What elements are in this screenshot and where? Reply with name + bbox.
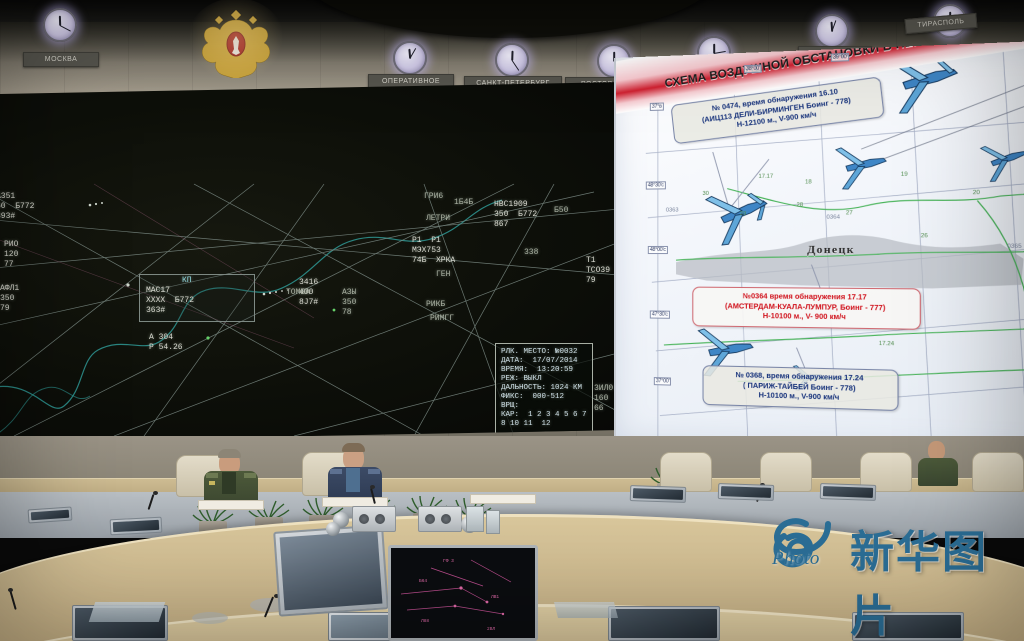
front-desk-monitor[interactable] (852, 612, 964, 641)
track-number-5: 18 (805, 179, 812, 185)
officer-shoulder-board-left (206, 473, 218, 478)
officer-shoulder-board-right (244, 473, 256, 478)
speaker-vent (359, 514, 369, 524)
glass-divider-panel (486, 510, 500, 534)
geo-label-4: 37°00' (654, 377, 672, 386)
svg-text:2ВЛ: 2ВЛ (487, 626, 495, 632)
radar-track-label-3: А 304 Р 54.26 (149, 333, 183, 353)
radar-panel-line-5: ФИКС: 000-512 (501, 393, 564, 402)
radar-track-label-7: T1 ТСО39 79 (586, 256, 610, 286)
radar-track-label-12: Б50 (554, 206, 568, 216)
track-number-2: 0365 (1007, 244, 1021, 251)
geo-label-3: 47°30'с (650, 310, 670, 318)
radar-track-label-20: ГЕН (436, 270, 450, 280)
front-desk-monitor[interactable] (608, 606, 720, 641)
radar-track-label-5: HBC1909 350 Б772 867 (494, 200, 537, 230)
track-number-3: 17.17 (758, 174, 773, 180)
monitor-screen (633, 488, 683, 500)
monitor-screen (721, 486, 771, 498)
radar-track-label-15: ГРИ6 (424, 192, 443, 202)
tilted-display-monitor[interactable] (273, 524, 389, 616)
speaker-vent (441, 514, 451, 524)
radar-panel-line-3: РЕЖ: ВЫКЛ (501, 375, 542, 384)
nameplate (198, 500, 264, 510)
embedded-desk-monitor[interactable] (110, 517, 163, 536)
chair (972, 452, 1024, 492)
radar-panel-line-7: КАР: 1 2 3 4 5 6 7 (501, 411, 587, 420)
geo-label-1: 48°30'с (646, 181, 666, 189)
officer-shoulder-board-left (330, 469, 342, 474)
geo-label-2: 48°00'с (648, 246, 668, 254)
svg-text:ЛВ1: ЛВ1 (491, 594, 499, 600)
geo-label-5: 38°00' (744, 64, 762, 73)
russian-coat-of-arms-emblem (193, 4, 279, 78)
clock-label-moscow: МОСКВА (23, 52, 99, 67)
console-radar-trace: ГФ 3 Б64 ЛВ1 Л88 2ВЛ (391, 548, 535, 638)
radar-panel-line-8: 8 10 11 12 (501, 420, 551, 429)
radar-track-label-16: РИКБ (426, 300, 445, 310)
track-number-11: 29 (740, 211, 746, 217)
radar-panel-line-6: ВРЩ: (501, 402, 519, 411)
screenshot-root: МОСКВА ОПЕРАТИВНОЕ САНКТ-ПЕТЕРБУРГ РОСТО… (0, 0, 1024, 641)
microphone-head (153, 491, 158, 495)
track-number-7: 20 (973, 190, 980, 197)
track-number-1: 0364 (826, 214, 839, 220)
map-label-donetsk: Донецк (807, 244, 855, 257)
radar-panel-line-4: ДАЛЬНОСТЬ: 1024 КМ (501, 384, 582, 393)
track-number-10: 28 (796, 202, 803, 208)
monitor-screen (823, 486, 873, 498)
projection-screen-air-situation-chart: СХЕМА ВОЗДУШНОЙ ОБСТАНОВКИ В ПЕРИОД С 17… (614, 40, 1024, 458)
radar-track-label-8: АФЛ1 350 79 (0, 284, 19, 314)
svg-text:Л88: Л88 (421, 618, 429, 624)
recessed-glass-panel (554, 602, 618, 618)
radar-track-label-19: ТОМБА (286, 288, 310, 298)
track-number-8: 26 (921, 233, 928, 239)
embedded-desk-monitor[interactable] (718, 483, 775, 501)
radar-track-label-9: РИО 120 77 (4, 240, 18, 270)
speaker-vent (375, 514, 385, 524)
speaker-vent (425, 514, 435, 524)
radar-display-screen: A351 50 Б772 393# КП МАС17 XXXX Б772 363… (0, 82, 630, 442)
officer-shirt-placket (346, 468, 360, 492)
microphone-head (370, 485, 375, 489)
embedded-desk-monitor[interactable] (630, 485, 687, 503)
radar-track-label-17: ЛЕТРИ (426, 214, 450, 224)
glass-divider-panel (466, 506, 484, 532)
console-radar-monitor[interactable]: ГФ 3 Б64 ЛВ1 Л88 2ВЛ (388, 545, 538, 641)
clock-saint-petersburg-face (495, 43, 529, 77)
radar-panel-line-2: ВРЕМЯ: 13:20:59 (501, 366, 573, 375)
officer-hair (342, 443, 365, 452)
geo-label-0: 37°в (650, 102, 664, 110)
aircraft-icon-4 (980, 137, 1024, 182)
radar-track-label-1: КП (182, 276, 192, 286)
clock-operational-face (393, 41, 427, 75)
monitor-screen: ГФ 3 Б64 ЛВ1 Л88 2ВЛ (391, 548, 535, 638)
radar-track-label-13: 3ИЛ0 160 66 (594, 384, 613, 414)
embedded-desk-monitor[interactable] (820, 483, 877, 501)
equipment-rack-unit (352, 506, 396, 532)
officer-shirt-placket (222, 472, 236, 494)
track-number-6: 19 (901, 172, 908, 178)
equipment-rack-unit (418, 506, 462, 532)
callout-flight-0364[interactable]: №0364 время обнаружения 17.17 (АМСТЕРДАМ… (692, 287, 921, 330)
radar-track-label-2: МАС17 XXXX Б772 363# (146, 286, 194, 316)
officer-hair (218, 449, 241, 458)
callout-flight-0368[interactable]: № 0368, время обнаружения 17.24 ( ПАРИЖ-… (703, 365, 899, 411)
radar-track-label-11: 338 (524, 248, 538, 258)
svg-text:ГФ 3: ГФ 3 (443, 558, 454, 564)
emblem-glow (187, 0, 285, 84)
clock-khabarovsk-face (815, 14, 849, 48)
geo-label-6: 39°00' (831, 53, 850, 62)
radar-track-label-0: A351 50 Б772 393# (0, 192, 34, 222)
radar-track-label-10: 1Б4Б (454, 198, 473, 208)
svg-text:Б64: Б64 (419, 578, 427, 584)
monitor-screen (280, 531, 383, 611)
track-number-0: 0363 (666, 207, 679, 213)
monitor-screen (31, 510, 69, 521)
radar-track-label-14: АЗЫ 350 78 (342, 288, 356, 318)
cable-grommet (192, 612, 228, 624)
recessed-glass-panel (89, 602, 165, 622)
officer-shoulder-board-right (368, 469, 380, 474)
radar-screen-content: A351 50 Б772 393# КП МАС17 XXXX Б772 363… (0, 88, 628, 436)
track-number-4: 17.24 (879, 341, 894, 348)
monitor-screen (611, 609, 717, 638)
nameplate (470, 494, 536, 504)
officer-torso-uniform (918, 458, 958, 486)
radar-track-label-6: Р1 Р1 МЭХ753 74Б ХРКА (412, 236, 455, 266)
clock-moscow-face (43, 8, 77, 42)
radar-panel-line-0: РЛК. МЕСТО: №0032 (501, 348, 578, 357)
radar-track-label-18: РИМГГ (430, 314, 454, 324)
track-number-9: 27 (846, 210, 853, 216)
microphone-head (8, 588, 13, 592)
monitor-screen (855, 615, 961, 638)
officer-medal-ribbon (209, 481, 215, 485)
monitor-screen (113, 520, 159, 532)
radar-panel-line-1: ДАТА: 17/07/2014 (501, 357, 578, 366)
radar-data-panel: РЛК. МЕСТО: №0032 ДАТА: 17/07/2014 ВРЕМЯ… (495, 343, 593, 442)
track-number-12: 30 (703, 191, 709, 197)
dome-camera (326, 522, 340, 536)
